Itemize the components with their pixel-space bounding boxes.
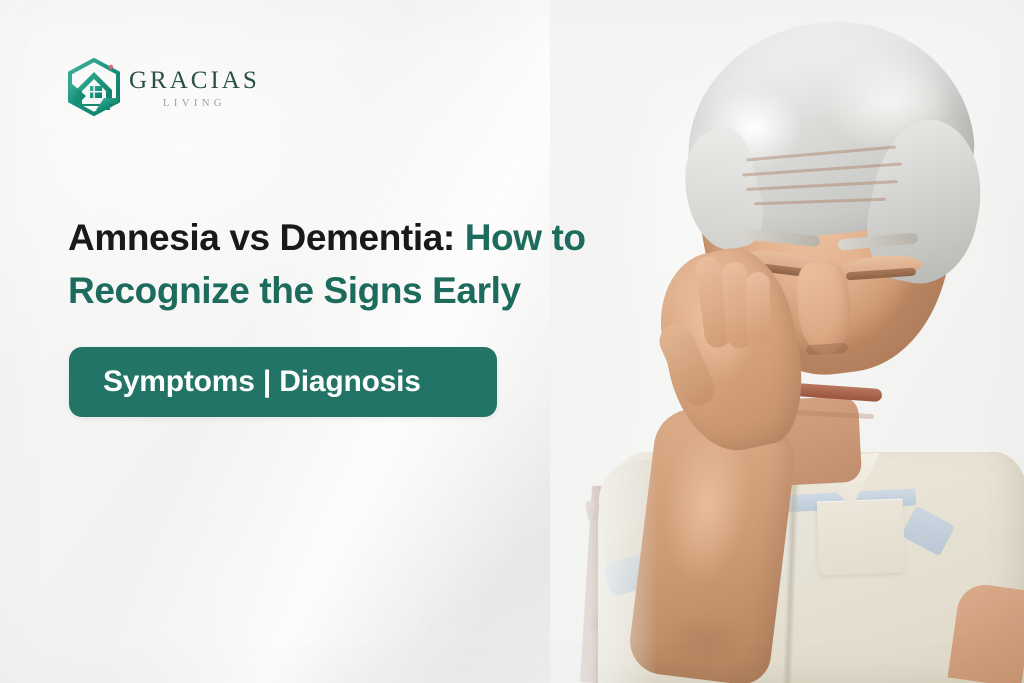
shirt-chest-pocket (817, 499, 906, 576)
page-title: Amnesia vs Dementia: How to Recognize th… (68, 211, 668, 318)
category-badge[interactable]: Symptoms | Diagnosis (69, 347, 497, 417)
category-badge-label: Symptoms | Diagnosis (69, 365, 421, 399)
brand-logo[interactable]: GRACIAS LIVING (66, 58, 260, 116)
headline-primary: Amnesia vs Dementia: (68, 217, 465, 258)
elbow-shadow (646, 600, 766, 680)
brand-tagline: LIVING (163, 98, 226, 109)
brand-wordmark: GRACIAS LIVING (129, 65, 260, 109)
elderly-man-photo (550, 0, 1024, 683)
hexagon-house-g-monogram-icon (66, 58, 122, 116)
brand-name: GRACIAS (129, 68, 260, 93)
article-hero-banner: GRACIAS LIVING Amnesia vs Dementia: How … (0, 0, 1024, 683)
photo-top-fade (550, 0, 1024, 120)
finger (746, 272, 770, 344)
